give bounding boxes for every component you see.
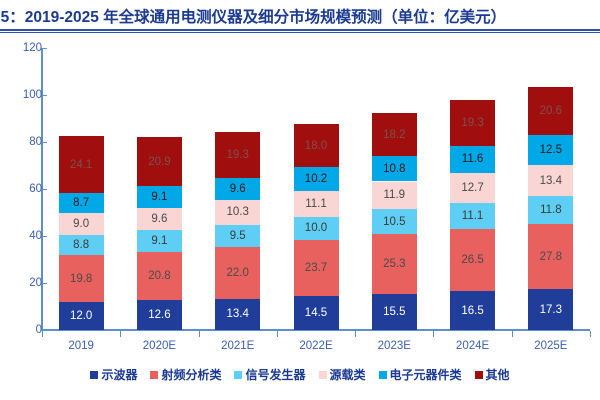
bar-segment[interactable]: 11.6 — [450, 146, 495, 173]
legend-swatch-icon — [234, 371, 242, 379]
page-title: 25：2019-2025 年全球通用电测仪器及细分市场规模预测（单位：亿美元） — [0, 5, 506, 27]
bar-segment[interactable]: 27.8 — [528, 224, 573, 289]
x-axis-tick-mark — [199, 331, 200, 337]
legend-swatch-icon — [475, 371, 483, 379]
bar-segment[interactable]: 10.8 — [372, 156, 417, 181]
bar-segment[interactable]: 9.0 — [59, 213, 104, 234]
bar-stack[interactable]: 17.327.811.813.412.520.6 — [528, 48, 573, 330]
x-axis-tick-label: 2020E — [143, 340, 176, 352]
bar-segment[interactable]: 11.9 — [372, 182, 417, 210]
x-axis-tick-mark — [277, 331, 278, 337]
chart-container: 020406080100120 20192020E2021E2022E2023E… — [0, 36, 600, 400]
bar-segment[interactable]: 24.1 — [59, 136, 104, 193]
bar-segment[interactable]: 26.5 — [450, 229, 495, 291]
bar-stack[interactable]: 12.019.88.89.08.724.1 — [59, 48, 104, 330]
bar-segment[interactable]: 10.3 — [215, 200, 260, 224]
legend-item[interactable]: 示波器 — [90, 366, 137, 383]
y-axis-tick-label: 40 — [0, 230, 42, 242]
bar-segment[interactable]: 14.5 — [294, 296, 339, 330]
legend-item-label: 电子元器件类 — [390, 366, 462, 383]
bar-segment[interactable]: 12.6 — [137, 300, 182, 330]
legend-item-label: 信号发生器 — [245, 366, 305, 383]
legend-item[interactable]: 信号发生器 — [234, 366, 305, 383]
bar-segment[interactable]: 17.3 — [528, 289, 573, 330]
legend-item[interactable]: 射频分析类 — [150, 366, 221, 383]
legend-item-label: 射频分析类 — [161, 366, 221, 383]
bar-segment[interactable]: 11.1 — [294, 191, 339, 217]
x-axis-tick-mark — [120, 331, 121, 337]
bar-segment[interactable]: 13.4 — [528, 165, 573, 196]
legend-swatch-icon — [319, 371, 327, 379]
bar-segment[interactable]: 9.1 — [137, 230, 182, 251]
bar-segment[interactable]: 18.0 — [294, 124, 339, 166]
bar-segment[interactable]: 10.5 — [372, 209, 417, 234]
y-axis-tick-label: 100 — [0, 89, 42, 101]
bar-segment[interactable]: 16.5 — [450, 291, 495, 330]
bar-segment[interactable]: 11.1 — [450, 203, 495, 229]
bar-segment[interactable]: 9.6 — [215, 178, 260, 201]
bar-stack[interactable]: 12.620.89.19.69.120.9 — [137, 48, 182, 330]
plot-area: 12.019.88.89.08.724.112.620.89.19.69.120… — [42, 48, 590, 330]
x-axis-tick-mark — [355, 331, 356, 337]
legend-swatch-icon — [379, 371, 387, 379]
bar-segment[interactable]: 9.5 — [215, 225, 260, 247]
legend-item-label: 示波器 — [101, 366, 137, 383]
bar-segment[interactable]: 13.4 — [215, 299, 260, 330]
bar-stack[interactable]: 14.523.710.011.110.218.0 — [294, 48, 339, 330]
y-axis-tick-label: 20 — [0, 277, 42, 289]
bar-segment[interactable]: 25.3 — [372, 234, 417, 293]
bar-segment[interactable]: 9.1 — [137, 186, 182, 207]
chart-legend: 示波器射频分析类信号发生器源载类电子元器件类其他 — [0, 366, 600, 383]
y-axis-tick-label: 0 — [0, 324, 42, 336]
bar-segment[interactable]: 12.7 — [450, 173, 495, 203]
bar-segment[interactable]: 22.0 — [215, 247, 260, 299]
bar-segment[interactable]: 12.0 — [59, 302, 104, 330]
x-axis-tick-mark — [433, 331, 434, 337]
x-axis-tick-label: 2025E — [534, 340, 567, 352]
bar-segment[interactable]: 10.0 — [294, 217, 339, 241]
bar-segment[interactable]: 11.8 — [528, 196, 573, 224]
bar-segment[interactable]: 20.6 — [528, 87, 573, 135]
x-axis-tick-mark — [590, 331, 591, 337]
bar-stack[interactable]: 13.422.09.510.39.619.3 — [215, 48, 260, 330]
chart-title-bar: 25：2019-2025 年全球通用电测仪器及细分市场规模预测（单位：亿美元） — [0, 0, 600, 31]
bar-segment[interactable]: 23.7 — [294, 240, 339, 296]
x-axis-tick-label: 2024E — [456, 340, 489, 352]
legend-item-label: 其他 — [486, 366, 510, 383]
bar-segment[interactable]: 8.7 — [59, 193, 104, 213]
bar-segment[interactable]: 20.9 — [137, 137, 182, 186]
bar-segment[interactable]: 20.8 — [137, 252, 182, 301]
bar-segment[interactable]: 15.5 — [372, 294, 417, 330]
x-axis-tick-mark — [42, 331, 43, 337]
bar-segment[interactable]: 19.8 — [59, 255, 104, 302]
legend-swatch-icon — [150, 371, 158, 379]
y-axis-tick-label: 80 — [0, 136, 42, 148]
legend-item[interactable]: 电子元器件类 — [379, 366, 462, 383]
bar-segment[interactable]: 10.2 — [294, 167, 339, 191]
title-divider — [0, 29, 600, 33]
legend-item[interactable]: 其他 — [475, 366, 510, 383]
legend-item[interactable]: 源载类 — [319, 366, 366, 383]
y-axis-tick-label: 120 — [0, 42, 42, 54]
legend-swatch-icon — [90, 371, 98, 379]
bar-stack[interactable]: 16.526.511.112.711.619.3 — [450, 48, 495, 330]
bar-segment[interactable]: 8.8 — [59, 235, 104, 256]
bar-stack[interactable]: 15.525.310.511.910.818.2 — [372, 48, 417, 330]
bar-segment[interactable]: 19.3 — [215, 132, 260, 177]
bar-segment[interactable]: 12.5 — [528, 135, 573, 164]
x-axis-tick-label: 2021E — [221, 340, 254, 352]
bar-segment[interactable]: 9.6 — [137, 208, 182, 231]
legend-item-label: 源载类 — [330, 366, 366, 383]
y-axis-tick-label: 60 — [0, 183, 42, 195]
bar-segment[interactable]: 19.3 — [450, 100, 495, 145]
x-axis-tick-label: 2022E — [299, 340, 332, 352]
x-axis-tick-label: 2019 — [68, 340, 94, 352]
x-axis-tick-label: 2023E — [378, 340, 411, 352]
x-axis-tick-mark — [512, 331, 513, 337]
bar-segment[interactable]: 18.2 — [372, 113, 417, 156]
